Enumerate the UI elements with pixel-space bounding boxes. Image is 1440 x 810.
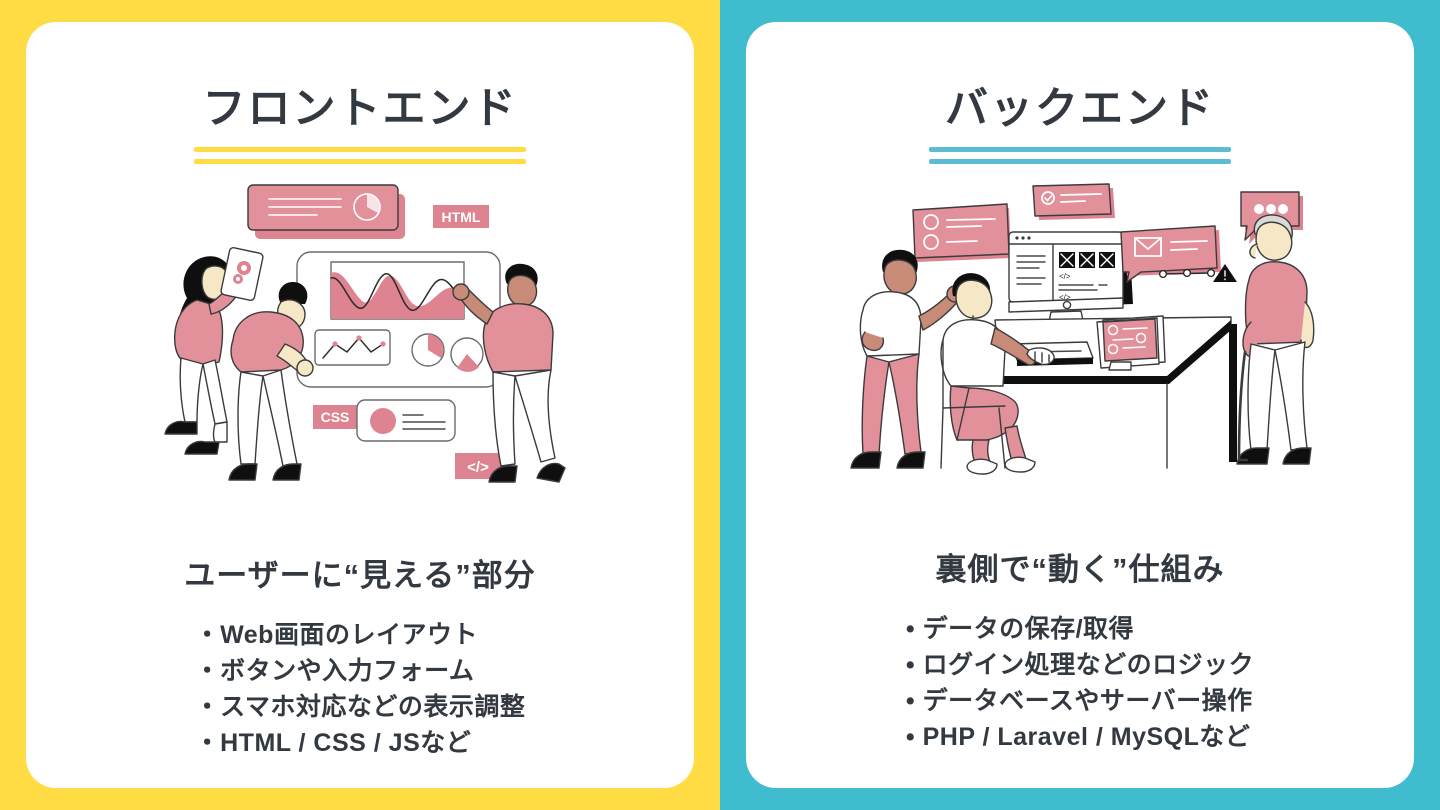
left-panel-background: フロントエンド: [0, 0, 720, 810]
underline-line-top: [929, 147, 1231, 152]
backend-card: バックエンド: [746, 22, 1414, 788]
backend-subtitle: 裏側で“動く”仕組み: [936, 544, 1225, 589]
frontend-bullet-list: Web画面のレイアウト ボタンや入力フォーム スマホ対応などの表示調整 HTML…: [195, 617, 526, 761]
frontend-subtitle: ユーザーに“見える”部分: [184, 550, 535, 595]
svg-text:HTML: HTML: [442, 209, 481, 225]
list-item: データの保存/取得: [906, 611, 1254, 647]
frontend-title: フロントエンド: [203, 88, 518, 131]
slide-root: フロントエンド: [0, 0, 1440, 810]
list-item: ログイン処理などのロジック: [906, 647, 1254, 683]
list-item: ボタンや入力フォーム: [195, 653, 526, 689]
list-item: HTML / CSS / JSなど: [195, 725, 526, 761]
svg-text:</>: </>: [1059, 272, 1071, 281]
svg-text:</>: </>: [467, 459, 489, 476]
frontend-title-underline: [194, 147, 526, 164]
backend-title-underline: [929, 147, 1231, 164]
frontend-illustration: HTML: [145, 172, 575, 502]
svg-text:CSS: CSS: [321, 409, 350, 425]
right-panel-background: バックエンド: [720, 0, 1440, 810]
list-item: スマホ対応などの表示調整: [195, 689, 526, 725]
list-item: PHP / Laravel / MySQLなど: [906, 719, 1254, 755]
backend-illustration: </> </>: [845, 172, 1315, 492]
list-item: Web画面のレイアウト: [195, 617, 526, 653]
underline-line-top: [194, 147, 526, 152]
list-item: データベースやサーバー操作: [906, 683, 1254, 719]
backend-bullet-list: データの保存/取得 ログイン処理などのロジック データベースやサーバー操作 PH…: [906, 611, 1254, 755]
backend-title: バックエンド: [945, 88, 1215, 131]
frontend-card: フロントエンド: [26, 22, 694, 788]
underline-line-bottom: [194, 159, 526, 164]
underline-line-bottom: [929, 159, 1231, 164]
